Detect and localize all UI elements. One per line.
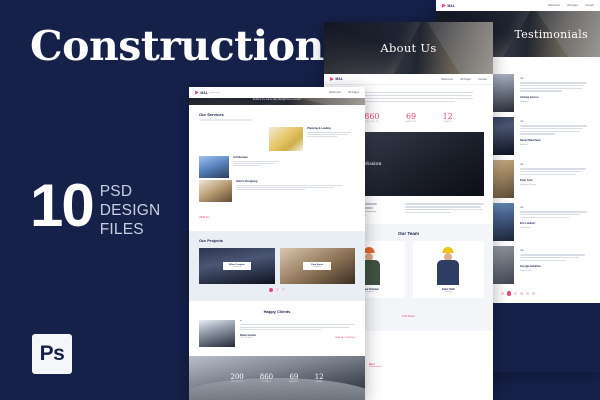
- stat-value: 12: [443, 112, 453, 121]
- logo-triangle-icon: [195, 91, 199, 95]
- nav-link-contact[interactable]: Contact: [585, 4, 594, 7]
- photoshop-icon-label: Ps: [40, 342, 65, 366]
- stat-item: 69 AWARDS: [289, 373, 299, 383]
- quote-icon: ““: [520, 120, 590, 124]
- logo-triangle-icon: [442, 4, 446, 8]
- home-hero-inner: Construction Building the future with st…: [239, 98, 315, 105]
- quote-icon: ““: [520, 249, 590, 253]
- team-member-role: Foreman: [416, 291, 482, 293]
- quote-icon: ““: [520, 206, 590, 210]
- testimonial-role: Consultant: [520, 227, 590, 229]
- projects-pagination[interactable]: [199, 288, 355, 293]
- clients-section: Happy Clients “ Robert Jacobs CEO, Nordw…: [189, 301, 365, 356]
- services-row-top: Planning & Leading: [199, 127, 355, 151]
- stat-value: 12: [315, 373, 324, 381]
- stat-label: AWARDS: [406, 121, 417, 123]
- about-nav-links[interactable]: Reference All Pages Contact: [441, 78, 487, 81]
- pagination-dot[interactable]: [520, 292, 523, 295]
- brand-logo[interactable]: M&L: [330, 77, 343, 81]
- stat-item: 69 AWARDS: [406, 112, 417, 123]
- photoshop-icon: Ps: [32, 334, 72, 374]
- about-navbar: M&L Reference All Pages Contact: [324, 74, 493, 85]
- brand-logo[interactable]: M&L: [442, 4, 455, 8]
- testimonial-role: Project Lead: [520, 270, 590, 272]
- stat-label: PROJECTS: [230, 381, 243, 383]
- quote-icon: ““: [520, 163, 590, 167]
- vision-right-copy: [405, 203, 484, 216]
- stat-item: 860 PROJECTS: [364, 112, 379, 123]
- testimonial-author: Daniel Blanchard: [520, 139, 590, 142]
- stat-item: 860 CLIENTS: [260, 373, 273, 383]
- nav-link-contact[interactable]: Contact: [478, 78, 487, 81]
- testimonial-author: Peter Asht: [520, 179, 590, 182]
- pagination-dot[interactable]: [276, 288, 279, 291]
- testimonials-hero-title: Testimonials: [514, 28, 600, 41]
- stat-item: 200 PROJECTS: [230, 373, 243, 383]
- full-team-button[interactable]: Full Team: [402, 314, 415, 318]
- client-testimonial[interactable]: “ Robert Jacobs CEO, Nordwall READ ALL R…: [199, 320, 355, 347]
- pagination-dot[interactable]: [501, 292, 504, 295]
- file-count-caption: PSD DESIGN FILES: [100, 183, 161, 240]
- pagination-dot[interactable]: [282, 288, 285, 291]
- nav-link-all-pages[interactable]: All Pages: [567, 4, 578, 7]
- logo-triangle-icon: [330, 77, 334, 81]
- team-member-photo: [416, 245, 482, 285]
- home-hero: Construction Building the future with st…: [189, 98, 365, 105]
- service-name: Planning & Leading: [307, 127, 355, 130]
- service-item[interactable]: Architecture: [199, 156, 285, 178]
- pagination-dot-active[interactable]: [507, 291, 512, 296]
- home-navbar: M&L construction Reference All Pages: [189, 87, 365, 98]
- service-name: Architecture: [233, 156, 285, 159]
- file-count-number: 10: [30, 180, 93, 232]
- home-stats: 200 PROJECTS 860 CLIENTS 69 AWARDS 12 YE…: [189, 356, 365, 400]
- services-row-bottom: Interior Designing: [199, 180, 355, 202]
- project-card[interactable]: Park Suites Residential: [280, 248, 356, 284]
- pagination-dot[interactable]: [526, 292, 529, 295]
- nav-link-reference[interactable]: Reference: [329, 91, 341, 94]
- services-section: Our Services Planning & Leading: [189, 105, 365, 230]
- nav-link-all-pages[interactable]: All Pages: [348, 91, 359, 94]
- project-label: Office Complex Commercial: [223, 262, 251, 270]
- stat-label: YEARS: [443, 121, 453, 123]
- brand-name: M&L: [448, 4, 456, 8]
- quote-icon: ““: [520, 77, 590, 81]
- project-card[interactable]: Office Complex Commercial: [199, 248, 275, 284]
- service-photo: [199, 180, 232, 202]
- projects-grid: Office Complex Commercial Park Suites Re…: [199, 248, 355, 284]
- team-member-card[interactable]: Adam Clark Foreman: [413, 241, 485, 298]
- stat-value: 69: [406, 112, 417, 121]
- mockup-home[interactable]: M&L construction Reference All Pages Con…: [189, 87, 365, 400]
- testimonial-role: Managing Director: [520, 184, 590, 186]
- project-label: Park Suites Residential: [303, 262, 331, 270]
- testimonial-author: Eric Lambert: [520, 222, 590, 225]
- home-hero-lead: Building the future with strength and pr…: [239, 98, 315, 101]
- service-item[interactable]: Planning & Leading: [269, 127, 355, 151]
- services-view-all-link[interactable]: VIEW ALL: [199, 216, 210, 219]
- project-category: Commercial: [223, 266, 251, 268]
- stat-label: AWARDS: [289, 381, 299, 383]
- stat-label: YEARS: [315, 381, 324, 383]
- services-row-mid: Architecture: [199, 156, 355, 178]
- page-title: Construction: [30, 26, 324, 67]
- service-photo: [199, 156, 229, 178]
- file-count-block: 10 PSD DESIGN FILES: [30, 180, 160, 240]
- nav-link-all-pages[interactable]: All Pages: [460, 78, 471, 81]
- service-name: Interior Designing: [236, 180, 355, 183]
- stat-label: CLIENTS: [260, 381, 273, 383]
- home-nav-links[interactable]: Reference All Pages: [329, 91, 359, 94]
- best-construction-mark: Best Construction: [369, 363, 381, 368]
- projects-section: Our Projects Office Complex Commercial P…: [189, 231, 365, 302]
- testimonial-role: Architect: [520, 144, 590, 146]
- stat-value: 69: [289, 373, 299, 381]
- brand-tagline: construction: [210, 92, 221, 94]
- pagination-dot-active[interactable]: [269, 288, 274, 293]
- client-photo: [199, 320, 235, 347]
- stat-value: 200: [230, 373, 243, 381]
- pagination-dot[interactable]: [514, 292, 517, 295]
- service-photo: [269, 127, 303, 151]
- caption-line-design: DESIGN: [100, 202, 161, 221]
- nav-link-reference[interactable]: Reference: [441, 78, 453, 81]
- about-hero-title: About Us: [380, 41, 436, 55]
- about-hero-inner: About Us: [380, 41, 436, 55]
- quote-icon: “: [240, 320, 355, 323]
- body-shape: [437, 260, 459, 285]
- testimonial-author: Andrew Carson: [520, 96, 590, 99]
- caption-line-psd: PSD: [100, 183, 161, 202]
- stat-label: PROJECTS: [364, 121, 379, 123]
- brand-name: M&L: [336, 77, 344, 81]
- brand-name: M&L: [201, 91, 209, 95]
- projects-title: Our Projects: [199, 238, 355, 243]
- about-hero: About Us: [324, 22, 493, 74]
- stat-item: 12 YEARS: [443, 112, 453, 123]
- testimonials-hero-inner: Testimonials: [514, 28, 600, 41]
- testimonial-role: Developer: [520, 101, 590, 103]
- service-item[interactable]: Interior Designing: [199, 180, 355, 202]
- pagination-dot[interactable]: [532, 292, 535, 295]
- brand-logo[interactable]: M&L construction: [195, 91, 220, 95]
- testimonials-nav-links[interactable]: Reference All Pages Contact: [548, 4, 594, 7]
- stat-value: 860: [364, 112, 379, 121]
- clients-title: Happy Clients: [199, 309, 355, 314]
- testimonials-navbar: M&L Reference All Pages Contact: [436, 0, 600, 11]
- testimonial-author: Georgia Hamilton: [520, 265, 590, 268]
- services-title: Our Services: [199, 112, 355, 117]
- stats-background-photo: [189, 356, 365, 400]
- client-role: CEO, Nordwall: [240, 337, 335, 339]
- caption-line-files: FILES: [100, 221, 161, 240]
- mark-sub: Construction: [369, 366, 381, 368]
- project-category: Residential: [303, 266, 331, 268]
- nav-link-reference[interactable]: Reference: [548, 4, 560, 7]
- clients-read-all-link[interactable]: READ ALL REVIEWS: [335, 337, 355, 339]
- stat-item: 12 YEARS: [315, 373, 324, 383]
- poster-canvas: Construction 10 PSD DESIGN FILES Ps M&L …: [0, 0, 600, 400]
- stat-value: 860: [260, 373, 273, 381]
